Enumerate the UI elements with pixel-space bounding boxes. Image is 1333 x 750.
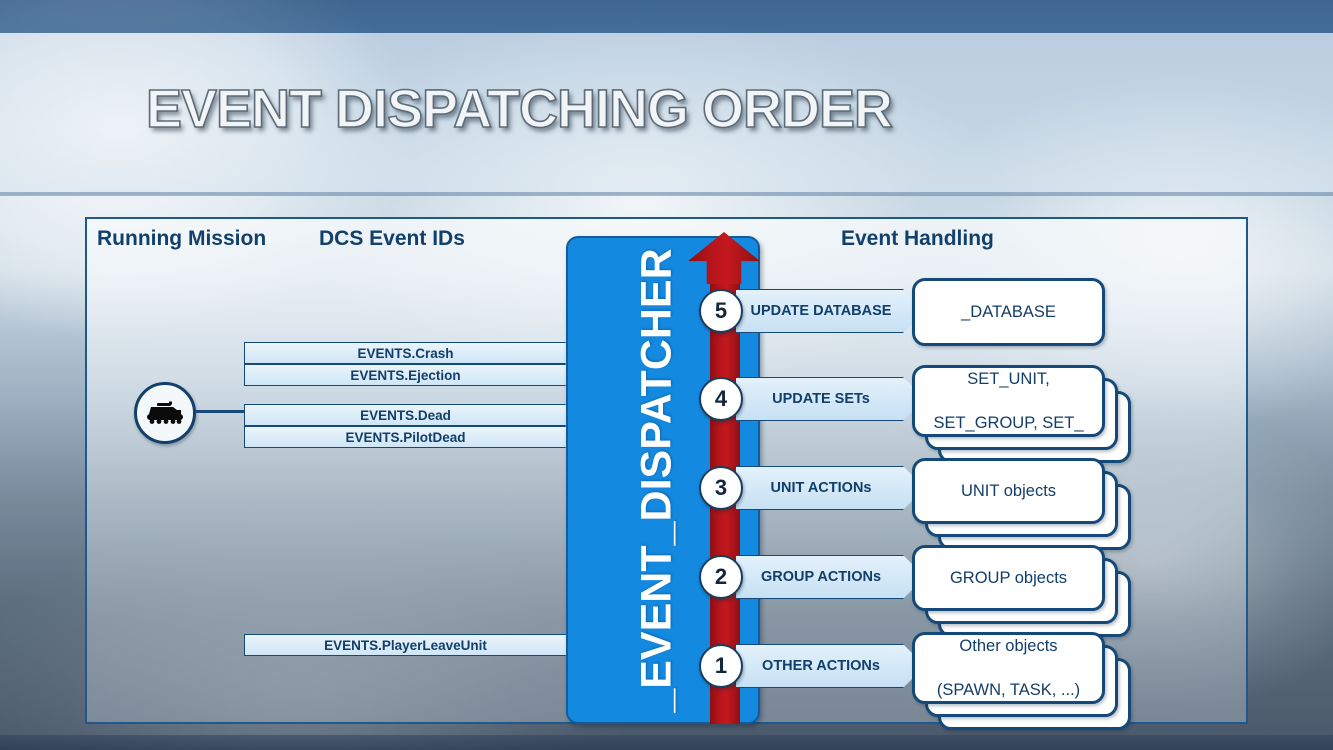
step-number-3: 3 — [699, 466, 743, 510]
title-band-edge — [0, 192, 1333, 196]
result-box-sets[interactable]: SET_UNIT,SET_GROUP, SET_ — [912, 365, 1105, 437]
result-box-other-objects-line: (SPAWN, TASK, ...) — [937, 679, 1080, 701]
bottom-decor-band — [0, 735, 1333, 750]
result-box-other-objects-stack: Other objects(SPAWN, TASK, ...) — [912, 632, 1135, 734]
result-box-database-stack: _DATABASE — [912, 278, 1135, 376]
result-box-sets-stack: SET_UNIT,SET_GROUP, SET_ — [912, 365, 1135, 467]
result-box-group-objects[interactable]: GROUP objects — [912, 545, 1105, 611]
column-header-running-mission: Running Mission — [97, 227, 266, 251]
action-chevron-update-sets[interactable]: UPDATE SETs — [735, 377, 925, 421]
action-chevron-other-actions[interactable]: OTHER ACTIONs — [735, 644, 925, 688]
step-number-4: 4 — [699, 377, 743, 421]
step-number-1: 1 — [699, 644, 743, 688]
result-box-group-objects-line: GROUP objects — [950, 567, 1067, 589]
result-box-other-objects-line: Other objects — [959, 635, 1057, 657]
event-chevron-crash[interactable]: EVENTS.Crash — [244, 342, 581, 364]
result-box-group-objects-stack: GROUP objects — [912, 545, 1135, 641]
action-chevron-update-database[interactable]: UPDATE DATABASE — [735, 289, 925, 333]
result-box-unit-objects[interactable]: UNIT objects — [912, 458, 1105, 524]
unit-to-events-connector — [196, 410, 248, 413]
tank-icon — [134, 382, 196, 444]
column-header-dcs-event-ids: DCS Event IDs — [319, 227, 465, 251]
result-box-unit-objects-line: UNIT objects — [961, 480, 1056, 502]
result-box-other-objects[interactable]: Other objects(SPAWN, TASK, ...) — [912, 632, 1105, 704]
step-number-2: 2 — [699, 555, 743, 599]
step-number-5: 5 — [699, 289, 743, 333]
result-box-database-line: _DATABASE — [961, 301, 1056, 323]
action-chevron-unit-actions[interactable]: UNIT ACTIONs — [735, 466, 925, 510]
result-box-unit-objects-stack: UNIT objects — [912, 458, 1135, 554]
action-chevron-group-actions[interactable]: GROUP ACTIONs — [735, 555, 925, 599]
event-chevron-playerleaveunit[interactable]: EVENTS.PlayerLeaveUnit — [244, 634, 581, 656]
column-header-event-handling: Event Handling — [841, 227, 994, 251]
event-chevron-dead[interactable]: EVENTS.Dead — [244, 404, 581, 426]
event-chevron-ejection[interactable]: EVENTS.Ejection — [244, 364, 581, 386]
event-chevron-pilotdead[interactable]: EVENTS.PilotDead — [244, 426, 581, 448]
page-title: EVENT DISPATCHING ORDER — [146, 78, 892, 140]
result-box-database[interactable]: _DATABASE — [912, 278, 1105, 346]
result-box-sets-line: SET_UNIT, — [967, 368, 1050, 390]
result-box-sets-line: SET_GROUP, SET_ — [933, 412, 1083, 434]
top-decor-band — [0, 0, 1333, 33]
